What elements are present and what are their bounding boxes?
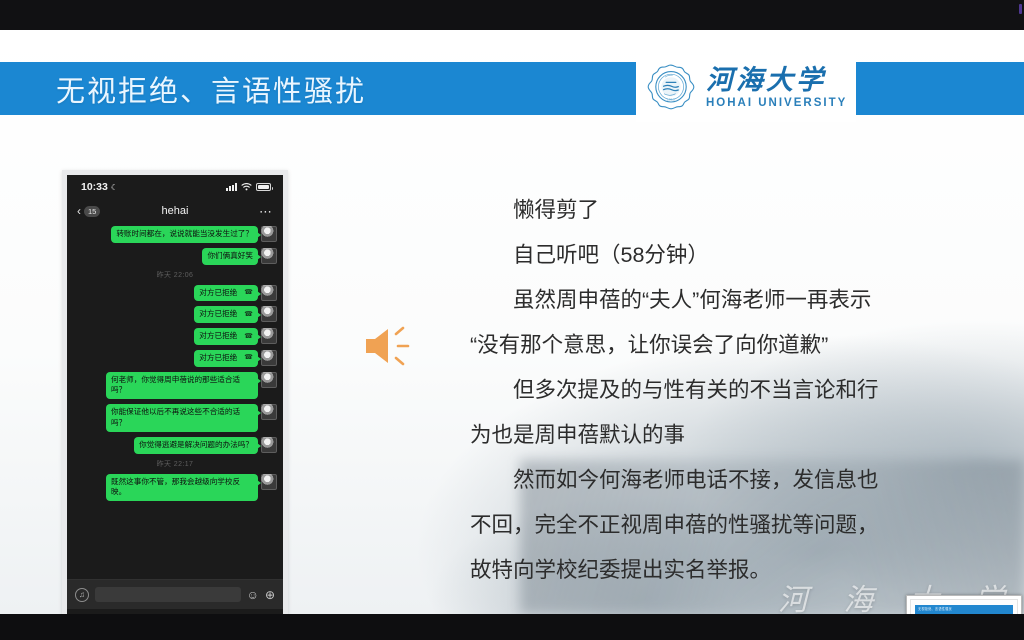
slide-body-text: 懒得剪了自己听吧（58分钟）虽然周申蓓的“夫人”何海老师一再表示“没有那个意思，… [470,188,998,593]
chat-daystamp: 昨天 22:06 [73,270,277,280]
slide-thumbnail-preview[interactable]: 无视拒绝、言语性骚扰 [906,595,1022,614]
crescent-moon-icon: ☾ [111,183,118,192]
phone-call-icon: ☎ [244,353,253,363]
plus-circle-icon[interactable]: ⊕ [265,589,275,601]
presentation-slide: 河 海 大 学 无视拒绝、言语性骚扰 [0,30,1024,614]
letterbox-top [0,0,1024,30]
message-bubble[interactable]: 既然这事你不管，那我会越级向学校反映。 [106,474,258,502]
body-text-line: 懒得剪了 [470,188,998,233]
letterbox-bottom [0,614,1024,640]
message-bubble[interactable]: 你能保证他以后不再说这些不合适的话吗？ [106,404,258,432]
body-text-line: 然而如今何海老师电话不接，发信息也 [470,458,998,503]
status-bar-indicators [226,182,271,193]
chevron-left-icon: ‹ [77,205,81,217]
voice-record-icon[interactable]: ♫ [75,588,89,602]
avatar[interactable] [261,404,277,420]
body-text-line: 但多次提及的与性有关的不当言论和行 [470,368,998,413]
logo-en-name: HOHAI UNIVERSITY [706,98,847,110]
chat-message-row: 对方已拒绝☎ [73,350,277,367]
body-text-line: 虽然周申蓓的“夫人”何海老师一再表示 [470,278,998,323]
battery-full-icon [256,183,271,191]
pip-header-text: 无视拒绝、言语性骚扰 [918,606,952,611]
message-text: 你能保证他以后不再说这些不合适的话吗？ [111,407,240,427]
chat-message-row: 何老师，你觉得周申蓓说的那些适合适吗？ [73,372,277,400]
status-bar-time: 10:33 [81,181,108,193]
chat-input-bar: ♫ ☺ ⊕ [67,579,283,609]
logo-text-group: 河海大学 HOHAI UNIVERSITY [706,67,847,110]
message-text: 既然这事你不管，那我会越级向学校反映。 [111,477,240,497]
ellipsis-icon[interactable]: ⋯ [259,205,273,218]
status-bar-time-group: 10:33 ☾ [81,181,118,193]
phone-call-icon: ☎ [244,288,253,298]
message-bubble[interactable]: 转账时间都在，说说就能当没发生过了？ [111,226,258,243]
chat-message-row: 你能保证他以后不再说这些不合适的话吗？ [73,404,277,432]
chat-screenshot-image: 10:33 ☾ ‹ 15 [62,170,288,614]
call-status-bubble[interactable]: 对方已拒绝☎ [194,350,258,367]
phone-call-icon: ☎ [244,310,253,320]
phone-status-bar: 10:33 ☾ [67,175,283,199]
svg-text:1915: 1915 [667,97,675,101]
message-text: 转账时间都在，说说就能当没发生过了？ [116,229,253,238]
unread-badge: 15 [84,206,100,217]
body-text-line: 故特向学校纪委提出实名举报。 [470,548,998,593]
body-text-line: 为也是周申蓓默认的事 [470,413,998,458]
chat-message-row: 既然这事你不管，那我会越级向学校反映。 [73,474,277,502]
edge-artifact [1019,4,1022,14]
cellular-signal-icon [226,183,237,191]
phone-call-icon: ☎ [244,332,253,342]
body-text-line: “没有那个意思，让你误会了向你道歉” [470,323,998,368]
message-text: 你们俩真好笑 [207,251,253,260]
wifi-icon [241,182,252,193]
avatar[interactable] [261,328,277,344]
back-button[interactable]: ‹ 15 [77,205,100,217]
call-status-bubble[interactable]: 对方已拒绝☎ [194,306,258,323]
university-logo: 1915 河海大学 HOHAI UNIVERSITY [636,55,856,122]
message-text: 对方已拒绝 [199,353,237,364]
chat-message-list[interactable]: 转账时间都在，说说就能当没发生过了？你们俩真好笑昨天 22:06对方已拒绝☎对方… [67,223,283,579]
emoji-smile-icon[interactable]: ☺ [247,589,259,601]
avatar[interactable] [261,350,277,366]
pip-slide-canvas: 无视拒绝、言语性骚扰 [910,599,1018,614]
avatar[interactable] [261,437,277,453]
logo-cn-name: 河海大学 [706,67,847,94]
body-text-line: 不回，完全不正视周申蓓的性骚扰等问题， [470,503,998,548]
message-text: 何老师，你觉得周申蓓说的那些适合适吗？ [111,375,240,395]
university-seal-icon: 1915 [644,62,698,116]
chat-message-row: 你觉得逃避是解决问题的办法吗？ [73,437,277,454]
message-input[interactable] [95,587,241,602]
message-text: 对方已拒绝 [199,288,237,299]
avatar[interactable] [261,226,277,242]
avatar[interactable] [261,306,277,322]
message-text: 你觉得逃避是解决问题的办法吗？ [139,440,253,449]
chat-message-row: 你们俩真好笑 [73,248,277,265]
speaker-sound-icon [360,318,416,374]
chat-message-row: 对方已拒绝☎ [73,306,277,323]
chat-message-row: 对方已拒绝☎ [73,328,277,345]
body-text-line: 自己听吧（58分钟） [470,233,998,278]
chat-message-row: 转账时间都在，说说就能当没发生过了？ [73,226,277,243]
video-player-stage: 河 海 大 学 无视拒绝、言语性骚扰 [0,0,1024,640]
phone-screen: 10:33 ☾ ‹ 15 [67,175,283,614]
message-bubble[interactable]: 何老师，你觉得周申蓓说的那些适合适吗？ [106,372,258,400]
pip-header-band: 无视拒绝、言语性骚扰 [915,605,1013,614]
avatar[interactable] [261,372,277,388]
message-text: 对方已拒绝 [199,309,237,320]
avatar[interactable] [261,248,277,264]
page-title: 无视拒绝、言语性骚扰 [56,62,366,115]
chat-navigation-bar: ‹ 15 hehai ⋯ [67,199,283,223]
message-bubble[interactable]: 你觉得逃避是解决问题的办法吗？ [134,437,258,454]
call-status-bubble[interactable]: 对方已拒绝☎ [194,328,258,345]
call-status-bubble[interactable]: 对方已拒绝☎ [194,285,258,302]
avatar[interactable] [261,285,277,301]
avatar[interactable] [261,474,277,490]
message-text: 对方已拒绝 [199,331,237,342]
message-bubble[interactable]: 你们俩真好笑 [202,248,258,265]
chat-message-row: 对方已拒绝☎ [73,285,277,302]
chat-daystamp: 昨天 22:17 [73,459,277,469]
